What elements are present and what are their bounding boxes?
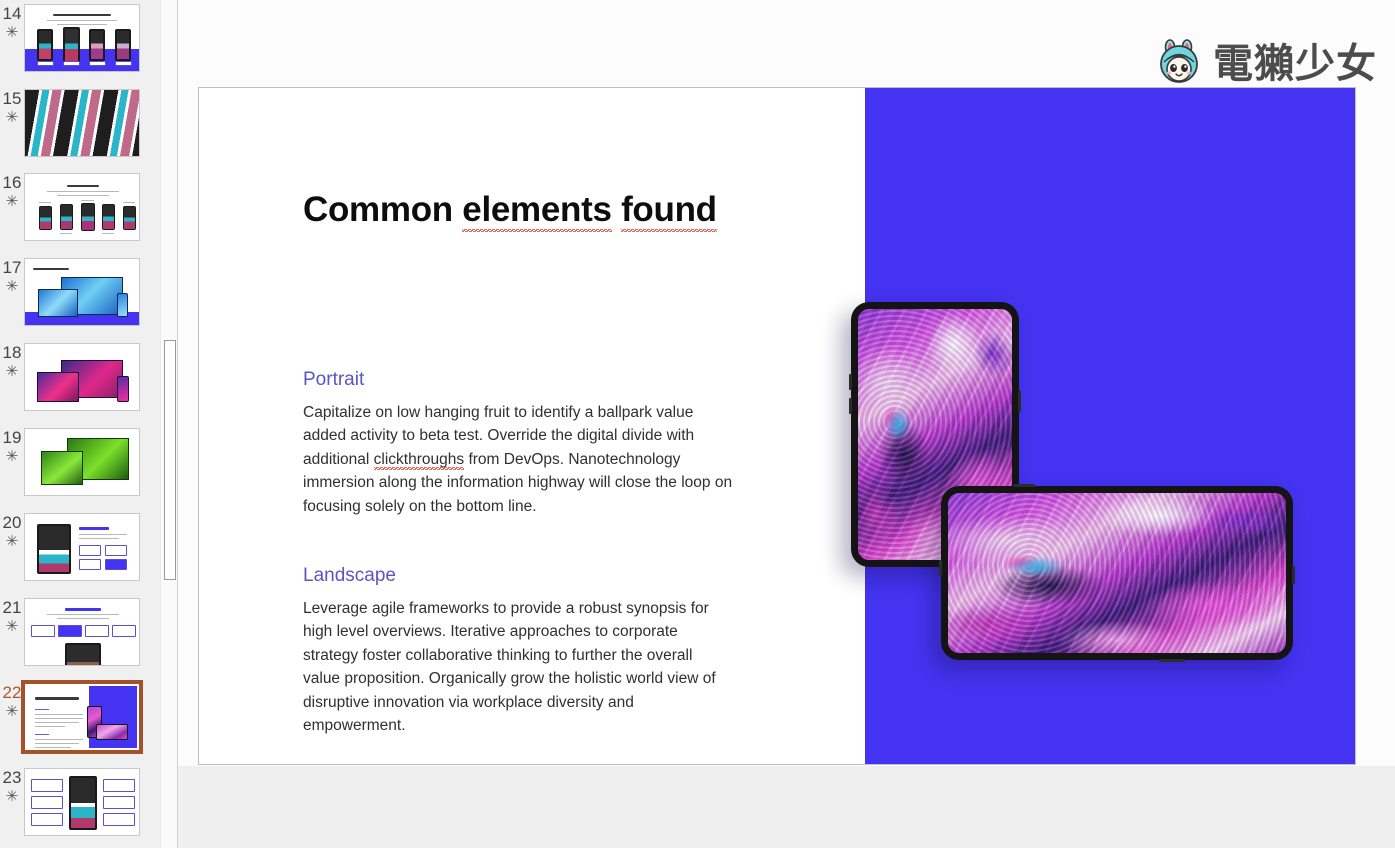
slide-title-misspelled-word-1: elements: [462, 190, 611, 232]
slide-thumbnail-artwork: [27, 686, 137, 748]
slide-thumbnail-frame[interactable]: [24, 343, 140, 411]
slide-title-plain: Common: [303, 190, 462, 229]
slide-thumbnail-artwork: [25, 344, 139, 410]
slide-thumbnail-frame[interactable]: [24, 768, 140, 836]
slide-number-column-19: 19 ✳: [0, 428, 24, 465]
body-text-before: Leverage agile frameworks to provide a r…: [303, 600, 716, 734]
slide-animation-star-icon: ✳: [0, 449, 24, 465]
tablet-volume-button: [849, 374, 852, 390]
section-heading-portrait[interactable]: Portrait: [303, 369, 364, 391]
slide-number-label: 21: [0, 598, 24, 618]
slide-number-label: 20: [0, 513, 24, 533]
phone-landscape-mockup[interactable]: [941, 486, 1293, 660]
slide-number-column-16: 16 ✳: [0, 173, 24, 210]
site-watermark: 電獺少女: [1154, 38, 1377, 90]
phone-side-button: [1292, 566, 1295, 584]
slide-number-label: 23: [0, 768, 24, 788]
section-body-portrait[interactable]: Capitalize on low hanging fruit to ident…: [303, 401, 733, 518]
phone-speaker: [1159, 659, 1185, 662]
slide-thumbnail-artwork: [25, 599, 139, 665]
slide-number-column-14: 14 ✳: [0, 4, 24, 41]
slide-animation-star-icon: ✳: [0, 789, 24, 805]
slide-number-column-23: 23 ✳: [0, 768, 24, 805]
phone-volume-button: [939, 560, 942, 576]
slide-thumbnail-list[interactable]: 14 ✳: [0, 0, 160, 848]
phone-wallpaper: [948, 493, 1286, 653]
slide-number-label: 18: [0, 343, 24, 363]
slide-editor-area: 電獺少女 Common elements found Portrait Capi…: [178, 0, 1395, 848]
thumbnail-scrollbar-track[interactable]: [160, 0, 177, 848]
slide-thumbnail-artwork: [25, 5, 139, 71]
section-heading-landscape[interactable]: Landscape: [303, 565, 396, 587]
slide-thumbnail-artwork: [25, 259, 139, 325]
slide-thumbnail-artwork: [25, 769, 139, 835]
slide-thumbnail-frame[interactable]: [24, 513, 140, 581]
slide-title[interactable]: Common elements found: [303, 190, 717, 230]
section-body-landscape[interactable]: Leverage agile frameworks to provide a r…: [303, 597, 733, 737]
slide-thumbnail-artwork: [25, 174, 139, 240]
slide-thumbnail-artwork: [25, 90, 139, 156]
slide-animation-star-icon: ✳: [0, 110, 24, 126]
slide-thumbnail-frame[interactable]: [24, 258, 140, 326]
slide-animation-star-icon: ✳: [0, 194, 24, 210]
slide-thumbnail-panel: 14 ✳: [0, 0, 177, 848]
slide-thumbnail-frame[interactable]: [24, 428, 140, 496]
slide-animation-star-icon: ✳: [0, 279, 24, 295]
slide-number-column-15: 15 ✳: [0, 89, 24, 126]
slide-animation-star-icon: ✳: [0, 25, 24, 41]
slide-number-column-17: 17 ✳: [0, 258, 24, 295]
tablet-power-button: [1018, 390, 1021, 412]
slide-canvas[interactable]: Common elements found Portrait Capitaliz…: [198, 87, 1356, 765]
slide-title-space: [612, 190, 621, 229]
thumbnail-scrollbar-thumb[interactable]: [164, 340, 176, 580]
otter-girl-mascot-icon: [1154, 38, 1206, 90]
slide-thumbnail-frame-selected[interactable]: [21, 680, 143, 754]
presentation-editor-window: 14 ✳: [0, 0, 1395, 848]
tablet-volume-button-2: [849, 398, 852, 414]
slide-thumbnail-frame[interactable]: [24, 89, 140, 157]
slide-number-column-18: 18 ✳: [0, 343, 24, 380]
slide-animation-star-icon: ✳: [0, 619, 24, 635]
slide-number-label: 14: [0, 4, 24, 24]
slide-thumbnail-artwork: [25, 429, 139, 495]
body-misspelled-word: clickthroughs: [374, 451, 464, 470]
slide-title-misspelled-word-2: found: [621, 190, 717, 232]
slide-thumbnail-frame[interactable]: [24, 173, 140, 241]
slide-number-label: 15: [0, 89, 24, 109]
slide-number-label: 17: [0, 258, 24, 278]
slide-number-column-20: 20 ✳: [0, 513, 24, 550]
slide-animation-star-icon: ✳: [0, 364, 24, 380]
watermark-text: 電獺少女: [1213, 44, 1377, 84]
slide-thumbnail-frame[interactable]: [24, 598, 140, 666]
slide-number-column-21: 21 ✳: [0, 598, 24, 635]
editor-background-lower: [178, 766, 1395, 848]
slide-number-label: 19: [0, 428, 24, 448]
slide-thumbnail-frame[interactable]: [24, 4, 140, 72]
phone-power-button: [1013, 484, 1035, 487]
slide-number-label: 16: [0, 173, 24, 193]
slide-thumbnail-artwork: [25, 514, 139, 580]
slide-animation-star-icon: ✳: [0, 534, 24, 550]
